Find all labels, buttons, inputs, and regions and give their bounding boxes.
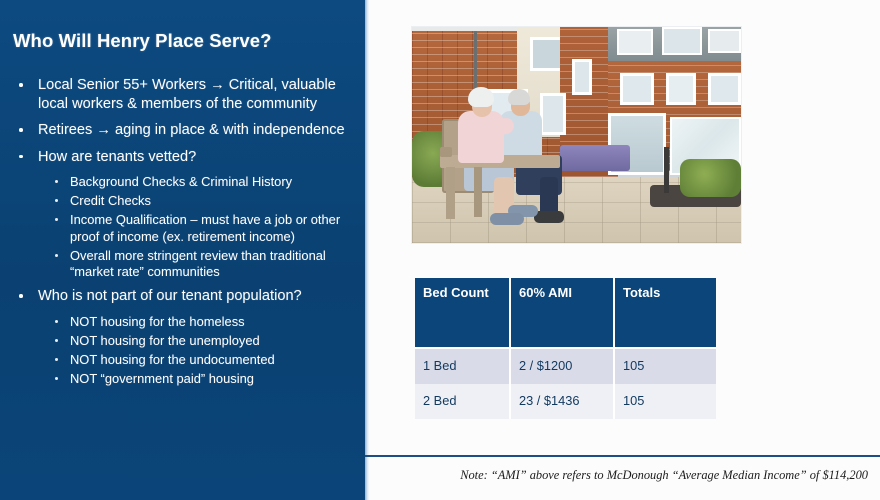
sub-bullet-dot-icon [55, 180, 58, 183]
photo-man-hair [508, 89, 530, 105]
bullet-group: Retirees → aging in place & with indepen… [0, 121, 365, 140]
bullet-group: Local Senior 55+ Workers → Critical, val… [0, 76, 365, 113]
photo-bench-leg [474, 167, 482, 217]
courtyard-photo [412, 27, 741, 243]
sub-bullet-item: Overall more stringent review than tradi… [0, 248, 365, 281]
sub-bullet-text: NOT housing for the undocumented [70, 352, 275, 367]
bullet-item: Local Senior 55+ Workers → Critical, val… [0, 76, 365, 113]
photo-woman-hair [468, 87, 494, 107]
footnote-divider [365, 455, 880, 457]
sub-bullet-item: Income Qualification – must have a job o… [0, 212, 365, 245]
sub-bullet-item: NOT housing for the undocumented [0, 352, 365, 368]
sub-bullet-item: NOT “government paid” housing [0, 371, 365, 387]
table-cell: 2 Bed [415, 384, 511, 419]
photo-dormer-window [708, 29, 741, 53]
table-cell: 105 [615, 384, 716, 419]
sub-bullet-item: NOT housing for the unemployed [0, 333, 365, 349]
photo-bench-leg [446, 167, 455, 219]
sub-bullet-dot-icon [55, 377, 58, 380]
bullet-list: Local Senior 55+ Workers → Critical, val… [0, 76, 365, 390]
photo-woman-shoe [490, 213, 524, 225]
sub-bullet-text: Income Qualification – must have a job o… [70, 212, 340, 243]
sub-bullet-dot-icon [55, 320, 58, 323]
sub-bullet-dot-icon [55, 199, 58, 202]
table-header-cell: 60% AMI [511, 278, 615, 349]
bullet-group: How are tenants vetted? Background Check… [0, 148, 365, 281]
bullet-item: Who is not part of our tenant population… [0, 287, 365, 306]
photo-window [666, 73, 696, 105]
table-header-cell: Bed Count [415, 278, 511, 349]
photo-bench-arm [440, 147, 452, 157]
sub-bullet-item: Credit Checks [0, 193, 365, 209]
photo-lavender-hedge [560, 145, 630, 171]
bullet-dot-icon [19, 83, 23, 87]
sub-bullet-text: NOT housing for the unemployed [70, 333, 260, 348]
table-cell: 2 / $1200 [511, 349, 615, 384]
bullet-text: How are tenants vetted? [38, 149, 196, 165]
sub-bullet-dot-icon [55, 358, 58, 361]
photo-man-shoe [534, 211, 564, 223]
bullet-dot-icon [19, 155, 23, 159]
bullet-group: Who is not part of our tenant population… [0, 287, 365, 387]
bullet-dot-icon [19, 128, 23, 132]
bullet-text: Who is not part of our tenant population… [38, 288, 302, 304]
bullet-item: How are tenants vetted? [0, 148, 365, 167]
sub-bullet-text: Overall more stringent review than tradi… [70, 248, 326, 279]
photo-gable-window [530, 37, 564, 71]
sub-bullet-text: Credit Checks [70, 193, 151, 208]
table-header-cell: Totals [615, 278, 716, 349]
photo-window [620, 73, 654, 105]
panel-edge-divider [365, 0, 369, 500]
sub-bullet-dot-icon [55, 218, 58, 221]
page-title: Who Will Henry Place Serve? [13, 30, 353, 52]
photo-window [708, 73, 741, 105]
photo-dormer-window [617, 29, 653, 55]
table-row: 1 Bed 2 / $1200 105 [415, 349, 716, 384]
footnote-text: Note: “AMI” above refers to McDonough “A… [380, 468, 868, 483]
sub-bullet-dot-icon [55, 339, 58, 342]
table-cell: 105 [615, 349, 716, 384]
slide-canvas: Who Will Henry Place Serve? Local Senior… [0, 0, 880, 500]
bullet-text: Local Senior 55+ Workers → Critical, val… [38, 77, 336, 112]
sub-bullet-text: NOT housing for the homeless [70, 314, 245, 329]
bullet-text: Retirees → aging in place & with indepen… [38, 122, 345, 138]
photo-window [540, 93, 566, 135]
sub-bullet-item: Background Checks & Criminal History [0, 174, 365, 190]
photo-dormer-window [662, 27, 702, 55]
table-cell: 1 Bed [415, 349, 511, 384]
photo-post [664, 147, 669, 193]
sub-bullet-text: Background Checks & Criminal History [70, 174, 292, 189]
photo-shrub [680, 159, 741, 197]
sub-bullet-text: NOT “government paid” housing [70, 371, 254, 386]
table-header-row: Bed Count 60% AMI Totals [415, 278, 716, 349]
sub-bullet-dot-icon [55, 254, 58, 257]
table-row: 2 Bed 23 / $1436 105 [415, 384, 716, 419]
bullet-dot-icon [19, 294, 23, 298]
table-cell: 23 / $1436 [511, 384, 615, 419]
photo-window [572, 59, 592, 95]
bullet-item: Retirees → aging in place & with indepen… [0, 121, 365, 140]
sub-bullet-item: NOT housing for the homeless [0, 314, 365, 330]
bed-count-table: Bed Count 60% AMI Totals 1 Bed 2 / $1200… [415, 278, 716, 419]
